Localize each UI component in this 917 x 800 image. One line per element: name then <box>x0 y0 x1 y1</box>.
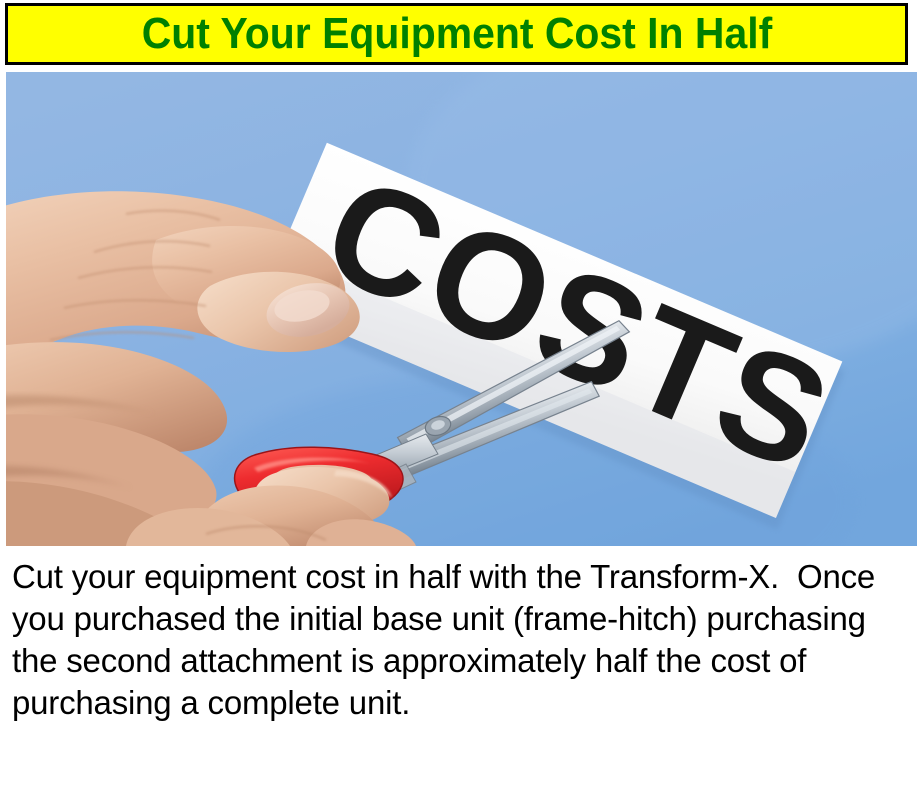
slide-canvas: Cut Your Equipment Cost In Half <box>0 0 917 800</box>
slide-title-banner: Cut Your Equipment Cost In Half <box>5 3 908 65</box>
slide-body-text: Cut your equipment cost in half with the… <box>12 556 905 724</box>
page-title: Cut Your Equipment Cost In Half <box>141 12 771 56</box>
photo-cutting-costs: COSTS <box>6 72 917 546</box>
photo-illustration: COSTS <box>6 72 917 546</box>
